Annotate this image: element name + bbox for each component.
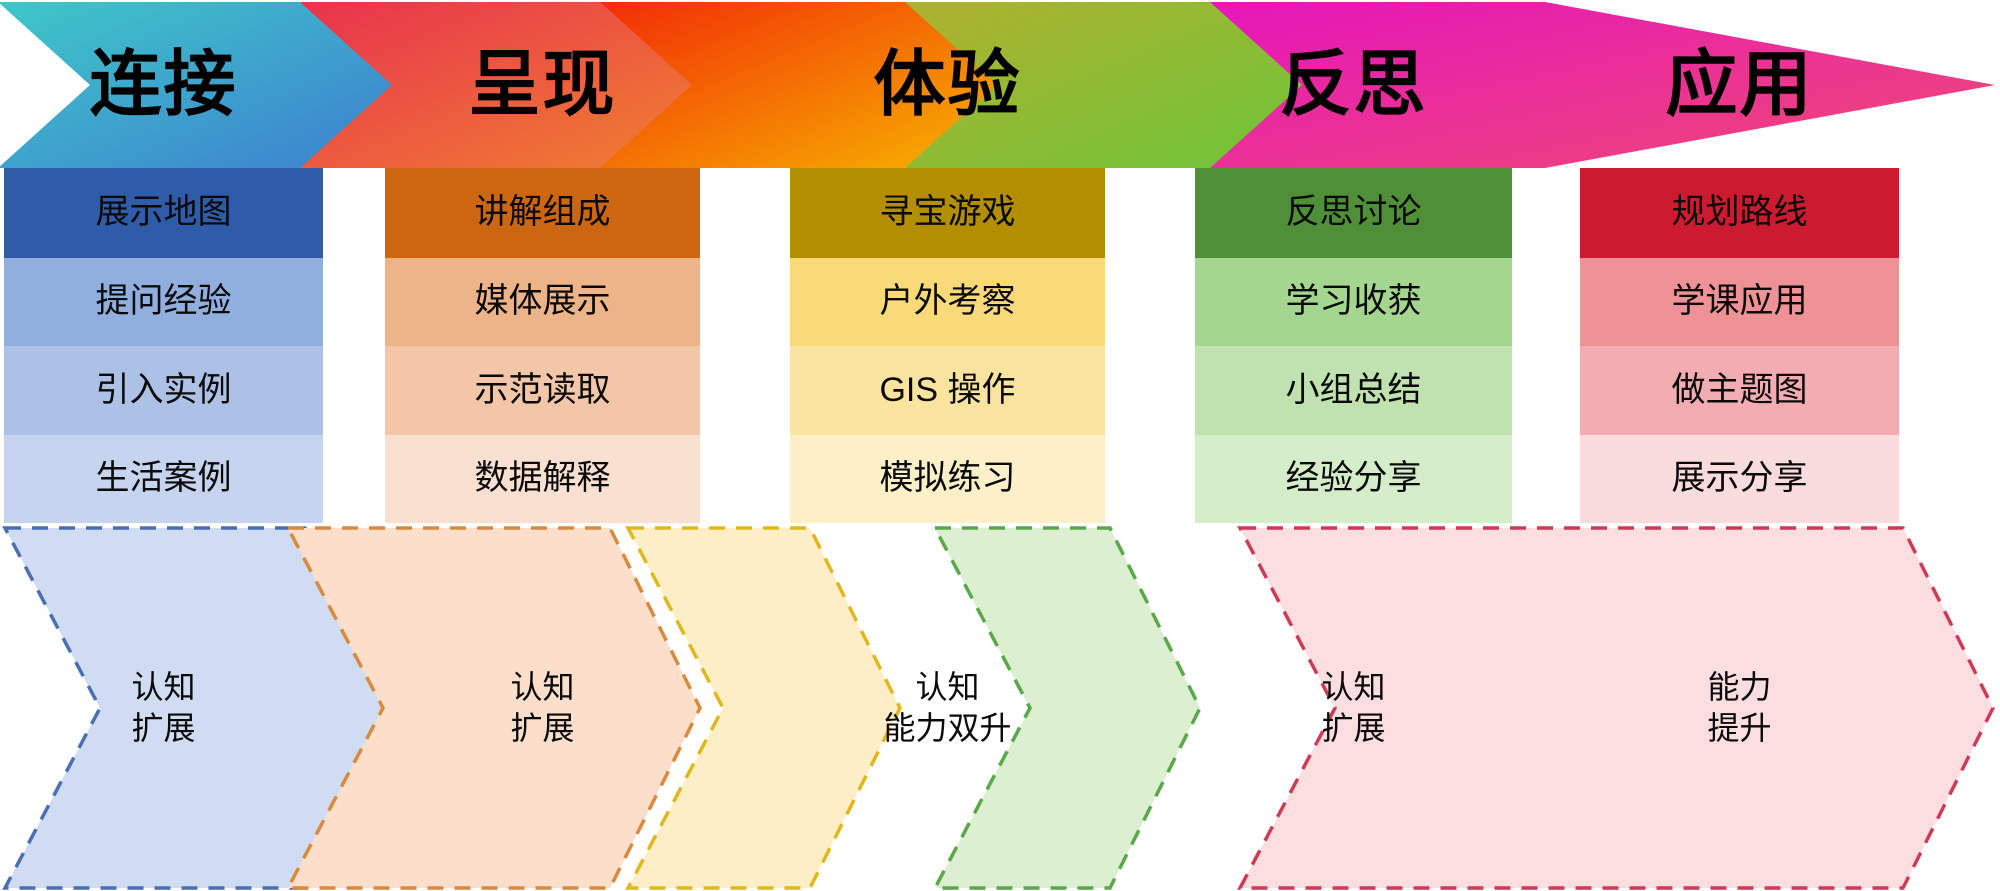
stage-4-row-2-label: 学习收获 [1195,258,1512,346]
stage-2-row-3-label: 示范读取 [385,346,700,435]
stage-4-row-3-label: 小组总结 [1195,346,1512,435]
stage-footer-label-2: 认知扩展 [385,528,700,888]
stage-footer-label-3: 认知能力双升 [790,528,1105,888]
stage-4-row-4-label: 经验分享 [1195,435,1512,523]
stage-2-row-1-label: 讲解组成 [385,168,700,258]
stage-footer-label-4: 认知扩展 [1195,528,1512,888]
stage-3-row-2-label: 户外考察 [790,258,1105,346]
stage-5-row-2-label: 学课应用 [1580,258,1899,346]
stage-3-row-4-label: 模拟练习 [790,435,1105,523]
stage-5-row-4-label: 展示分享 [1580,435,1899,523]
stage-1-row-1-label: 展示地图 [4,168,323,258]
stage-1-row-3-label: 引入实例 [4,346,323,435]
stage-3-row-3-label: GIS 操作 [790,346,1105,435]
stage-1-footer-line-1: 认知 [131,667,195,708]
stage-1-row-4-label: 生活案例 [4,435,323,523]
stage-5-row-3-label: 做主题图 [1580,346,1899,435]
stage-footer-label-5: 能力提升 [1580,528,1899,888]
stage-2-row-2-label: 媒体展示 [385,258,700,346]
stage-1-row-2-label: 提问经验 [4,258,323,346]
stage-footer-label-1: 认知扩展 [4,528,323,888]
chevron-process-diagram: 连接展示地图提问经验引入实例生活案例认知扩展呈现讲解组成媒体展示示范读取数据解释… [0,0,2000,891]
stage-4-footer-line-1: 认知 [1321,667,1385,708]
stage-header-chevron-5 [1210,2,1995,168]
stage-2-footer-line-2: 扩展 [510,708,574,749]
stage-2-row-4-label: 数据解释 [385,435,700,523]
stage-1-footer-line-2: 扩展 [131,708,195,749]
stage-5-row-1-label: 规划路线 [1580,168,1899,258]
stage-3-footer-line-2: 能力双升 [883,708,1011,749]
stage-5-footer-line-2: 提升 [1707,708,1771,749]
stage-3-row-1-label: 寻宝游戏 [790,168,1105,258]
stage-4-row-1-label: 反思讨论 [1195,168,1512,258]
stage-2-footer-line-1: 认知 [510,667,574,708]
stage-3-footer-line-1: 认知 [915,667,979,708]
stage-4-footer-line-2: 扩展 [1321,708,1385,749]
stage-5-footer-line-1: 能力 [1707,667,1771,708]
